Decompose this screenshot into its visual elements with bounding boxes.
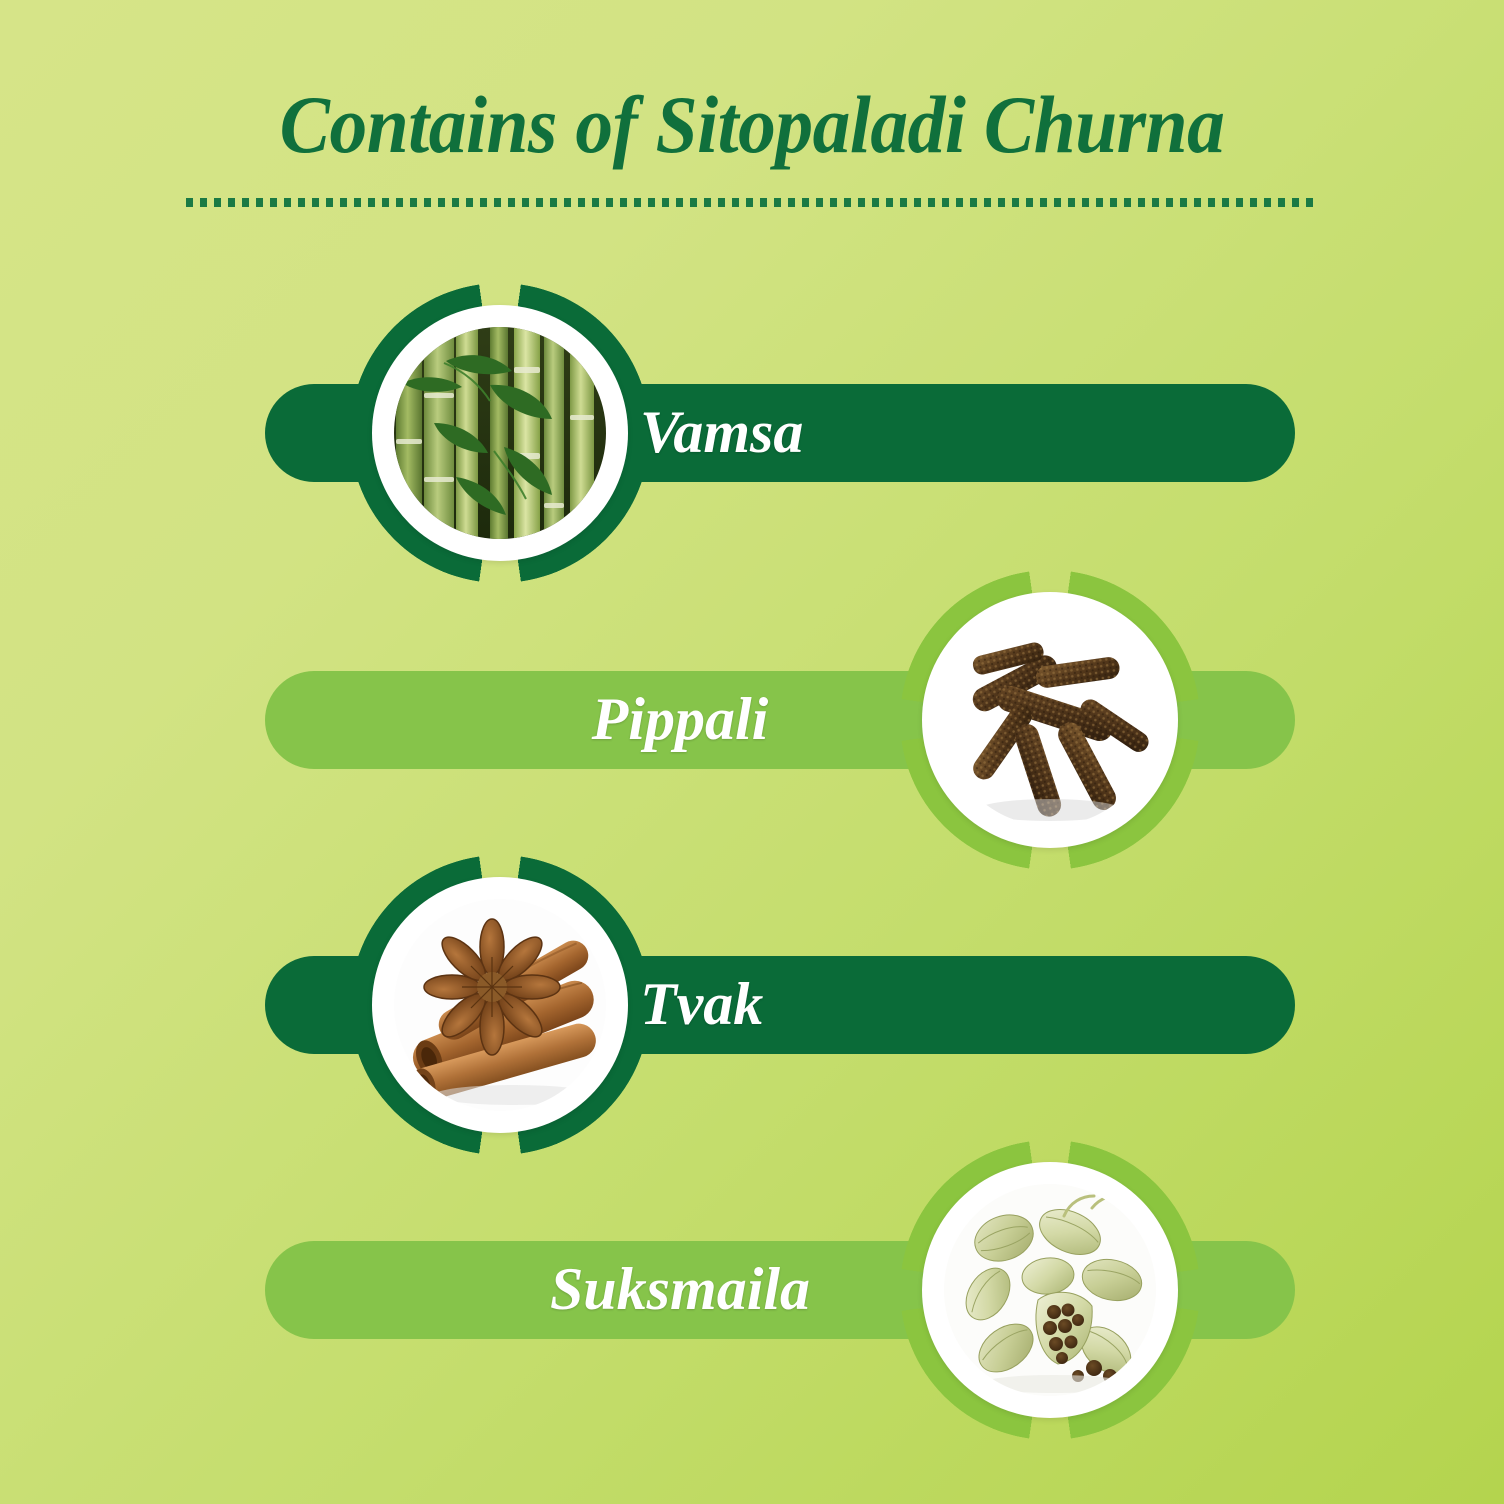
infographic-canvas: Contains of Sitopaladi Churna Vamsa	[0, 0, 1504, 1504]
ingredient-badge	[900, 1140, 1200, 1440]
ingredient-row: Pippali	[0, 570, 1504, 870]
long-pepper-photo	[944, 614, 1156, 826]
ingredient-row: Tvak	[0, 855, 1504, 1155]
ingredient-badge	[350, 283, 650, 583]
ingredient-label: Tvak	[640, 956, 763, 1054]
ingredient-label: Suksmaila	[450, 1241, 910, 1339]
cinnamon-star-anise-photo	[394, 899, 606, 1111]
bamboo-photo	[394, 327, 606, 539]
ingredient-badge	[350, 855, 650, 1155]
ingredient-badge	[900, 570, 1200, 870]
title-divider	[186, 198, 1318, 207]
ingredient-row: Suksmaila	[0, 1140, 1504, 1440]
ingredient-label: Pippali	[450, 671, 910, 769]
ingredient-row: Vamsa	[0, 283, 1504, 583]
cardamom-photo	[944, 1184, 1156, 1396]
ingredient-label: Vamsa	[640, 384, 803, 482]
page-title: Contains of Sitopaladi Churna	[60, 78, 1444, 172]
